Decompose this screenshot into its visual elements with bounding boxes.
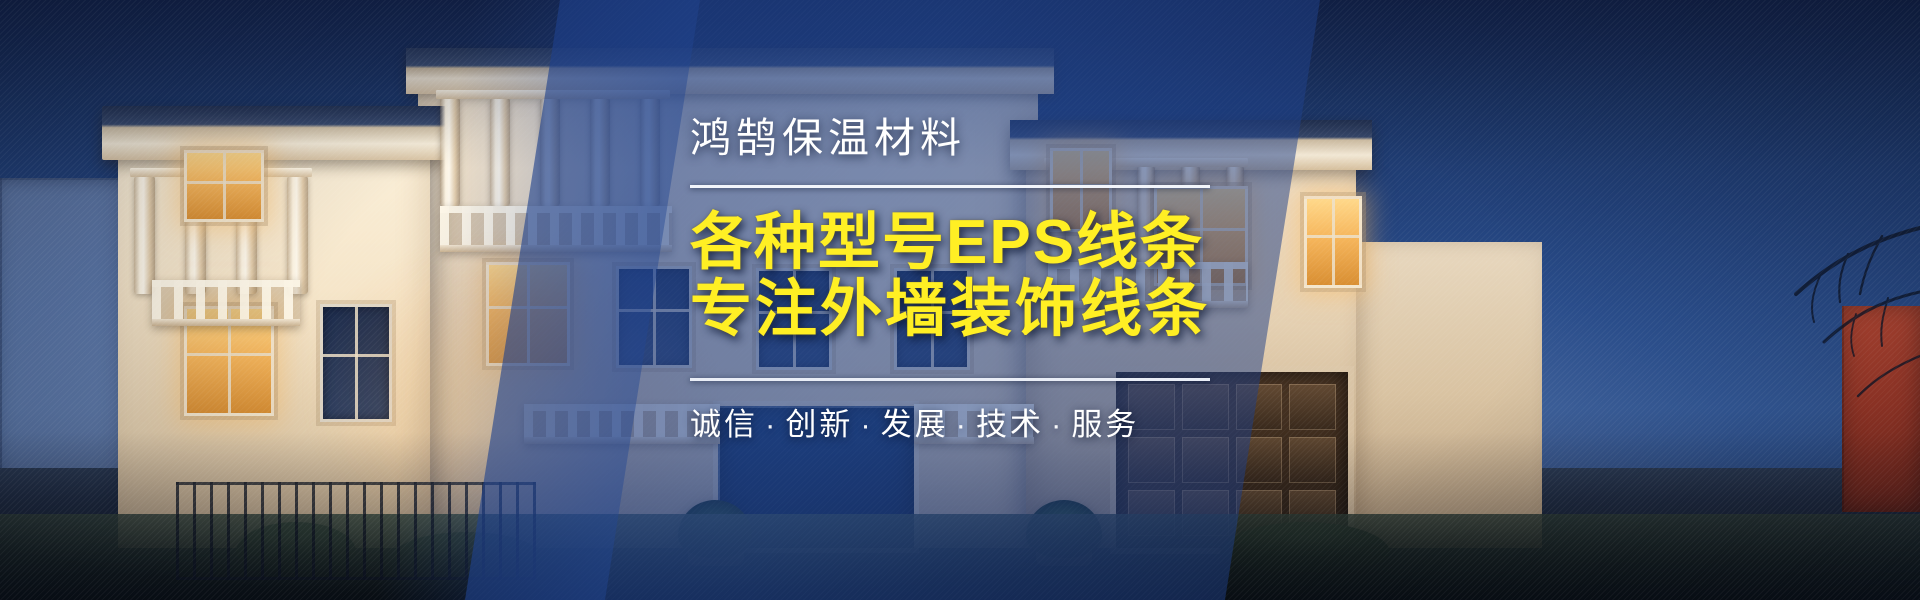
red-container — [1842, 306, 1920, 512]
column — [490, 98, 510, 206]
headline-line-2: 专注外墙装饰线条 — [690, 277, 1310, 344]
villa-centre-cornice — [406, 48, 1054, 94]
villa-far-right-wall — [1356, 242, 1542, 548]
iron-fence — [176, 482, 536, 580]
column — [134, 176, 155, 294]
window — [616, 266, 692, 368]
window-lit — [184, 150, 264, 222]
divider-bottom — [690, 378, 1210, 381]
balustrade — [152, 280, 300, 326]
tagline-word: 服务 — [1071, 407, 1139, 442]
column — [440, 98, 460, 206]
divider-top — [690, 185, 1210, 188]
column — [540, 98, 560, 206]
villa-left-wing-roof — [102, 106, 446, 160]
headline: 各种型号EPS线条 专注外墙装饰线条 — [690, 210, 1310, 344]
column — [640, 98, 660, 206]
tagline-word: 发展 — [881, 407, 949, 442]
balustrade — [440, 206, 672, 252]
tagline-word: 技术 — [976, 407, 1044, 442]
window-lit — [486, 262, 570, 366]
headline-line-1: 各种型号EPS线条 — [690, 210, 1310, 277]
hero-banner: 鸿鹄保温材料 各种型号EPS线条 专注外墙装饰线条 诚信·创新·发展·技术·服务 — [0, 0, 1920, 600]
tagline-separator: · — [949, 407, 976, 442]
tagline-separator: · — [853, 407, 880, 442]
colonnade-centre-upper — [440, 98, 666, 206]
column — [590, 98, 610, 206]
tagline-word: 创新 — [785, 407, 853, 442]
column — [287, 176, 308, 294]
window-lit — [1304, 196, 1362, 288]
tagline-word: 诚信 — [690, 407, 758, 442]
tagline-separator: · — [758, 407, 785, 442]
window — [320, 304, 392, 422]
brand-name: 鸿鹄保温材料 — [690, 118, 1310, 159]
tagline-separator: · — [1044, 407, 1071, 442]
banner-copy: 鸿鹄保温材料 各种型号EPS线条 专注外墙装饰线条 诚信·创新·发展·技术·服务 — [690, 118, 1310, 444]
tagline: 诚信·创新·发展·技术·服务 — [690, 399, 1310, 444]
